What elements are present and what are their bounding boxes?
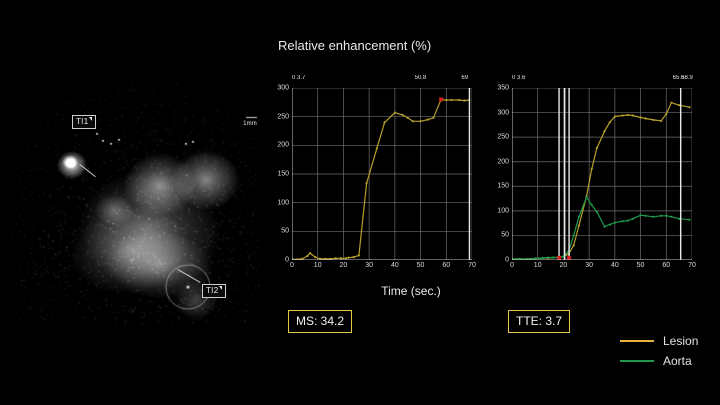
marker-point[interactable] [557, 256, 561, 260]
data-point [639, 116, 641, 118]
x-tick-label: 30 [365, 262, 373, 269]
data-point [614, 115, 616, 117]
x-tick-label: 0 [290, 262, 294, 269]
data-point [353, 256, 355, 258]
x-axis-title: Time (sec.) [381, 284, 441, 298]
data-point [591, 168, 593, 170]
data-point [665, 215, 667, 217]
plot-area[interactable] [292, 88, 472, 260]
roi-label-ti1[interactable]: TI1 [72, 115, 96, 129]
data-point [596, 211, 598, 213]
data-point [609, 121, 611, 123]
data-point [309, 252, 311, 254]
chart-lesion-aorta[interactable]: 0501001502002503003500102030405060700 3.… [512, 88, 692, 260]
y-tick-label: 350 [497, 85, 509, 92]
y-tick-label: 0 [285, 257, 289, 264]
data-point [573, 244, 575, 246]
x-tick-label: 50 [637, 262, 645, 269]
data-point [306, 255, 308, 257]
data-point [412, 120, 414, 122]
data-point [345, 257, 347, 259]
data-point [632, 218, 634, 220]
data-point [670, 102, 672, 104]
app-root: 1mm TI1 TI2 Relative enhancement (%) Tim… [0, 0, 720, 405]
data-point [358, 254, 360, 256]
plot[interactable]: 0501001502002503003500102030405060700 3.… [512, 88, 692, 260]
chart-lesion[interactable]: 0501001502002503000102030405060700 3.750… [292, 88, 472, 260]
data-point [407, 117, 409, 119]
data-point [383, 121, 385, 123]
y-tick-label: 50 [501, 232, 509, 239]
data-point [652, 216, 654, 218]
y-tick-label: 150 [277, 171, 289, 178]
data-point [365, 182, 367, 184]
x-tick-label: 60 [442, 262, 450, 269]
data-point [688, 219, 690, 221]
data-point [645, 215, 647, 217]
data-point [573, 234, 575, 236]
top-axis-label: 0 3.6 [512, 75, 525, 81]
x-tick-label: 60 [662, 262, 670, 269]
y-tick-label: 200 [277, 142, 289, 149]
roi-resize-handle-icon[interactable] [89, 117, 92, 121]
data-point [652, 119, 654, 121]
y-tick-label: 250 [497, 134, 509, 141]
data-point [670, 216, 672, 218]
data-point [340, 257, 342, 259]
data-point [445, 99, 447, 101]
scale-bar-label: 1mm [243, 121, 257, 127]
data-point [621, 114, 623, 116]
data-point [688, 106, 690, 108]
data-point [645, 117, 647, 119]
x-tick-label: 70 [688, 262, 696, 269]
legend-swatch-aorta [620, 360, 654, 362]
roi-label-ti2-text: TI2 [206, 286, 218, 295]
top-axis-label: 68.9 [681, 75, 693, 81]
y-tick-label: 250 [277, 113, 289, 120]
data-point [376, 147, 378, 149]
data-point [632, 114, 634, 116]
data-point [432, 117, 434, 119]
x-tick-label: 20 [560, 262, 568, 269]
data-point [458, 99, 460, 101]
legend: Lesion Aorta [620, 331, 698, 371]
x-tick-label: 50 [417, 262, 425, 269]
legend-label-lesion: Lesion [663, 334, 698, 348]
data-point [678, 104, 680, 106]
data-point [591, 204, 593, 206]
metric-tte[interactable]: TTE: 3.7 [508, 310, 570, 333]
data-point [394, 112, 396, 114]
plot-area[interactable] [512, 88, 692, 260]
y-tick-label: 300 [277, 85, 289, 92]
data-point [660, 215, 662, 217]
x-tick-label: 40 [611, 262, 619, 269]
data-point [621, 220, 623, 222]
data-point [542, 257, 544, 259]
y-tick-label: 100 [497, 207, 509, 214]
data-point [585, 196, 587, 198]
charts-title: Relative enhancement (%) [278, 38, 431, 53]
data-point [463, 100, 465, 102]
data-point [614, 222, 616, 224]
data-point [627, 114, 629, 116]
data-point [450, 99, 452, 101]
data-point [627, 220, 629, 222]
scan-image-panel[interactable]: 1mm TI1 TI2 [10, 65, 260, 325]
y-tick-label: 150 [497, 183, 509, 190]
top-axis-label: 69 [461, 75, 468, 81]
data-point [547, 256, 549, 258]
x-tick-label: 0 [510, 262, 514, 269]
plot[interactable]: 0501001502002503000102030405060700 3.750… [292, 88, 472, 260]
top-axis-label: 0 3.7 [292, 75, 305, 81]
legend-item-aorta: Aorta [620, 351, 698, 371]
data-point [639, 214, 641, 216]
data-point [603, 225, 605, 227]
data-point [603, 130, 605, 132]
data-point [578, 225, 580, 227]
data-point [609, 224, 611, 226]
legend-swatch-lesion [620, 340, 654, 342]
y-tick-label: 300 [497, 109, 509, 116]
roi-resize-handle-icon[interactable] [219, 286, 222, 290]
data-point [314, 256, 316, 258]
y-tick-label: 200 [497, 158, 509, 165]
x-tick-label: 40 [391, 262, 399, 269]
metric-ms[interactable]: MS: 34.2 [288, 310, 352, 333]
y-tick-label: 50 [281, 228, 289, 235]
data-point [347, 257, 349, 259]
x-tick-label: 30 [585, 262, 593, 269]
marker-point[interactable] [439, 97, 443, 101]
data-point [427, 118, 429, 120]
data-point [401, 114, 403, 116]
data-point [534, 257, 536, 259]
data-point [578, 216, 580, 218]
y-tick-label: 100 [277, 199, 289, 206]
data-point [660, 120, 662, 122]
legend-item-lesion: Lesion [620, 331, 698, 351]
data-point [596, 147, 598, 149]
roi-label-ti2[interactable]: TI2 [202, 284, 226, 298]
roi-label-ti1-text: TI1 [76, 117, 88, 126]
marker-point[interactable] [567, 256, 571, 260]
data-point [678, 218, 680, 220]
top-axis-label: 50.8 [415, 75, 427, 81]
data-point [335, 257, 337, 259]
y-tick-label: 0 [505, 257, 509, 264]
legend-label-aorta: Aorta [663, 354, 692, 368]
x-tick-label: 70 [468, 262, 476, 269]
x-tick-label: 10 [534, 262, 542, 269]
data-point [552, 256, 554, 258]
x-tick-label: 20 [340, 262, 348, 269]
data-point [665, 113, 667, 115]
x-tick-label: 10 [314, 262, 322, 269]
data-point [419, 120, 421, 122]
